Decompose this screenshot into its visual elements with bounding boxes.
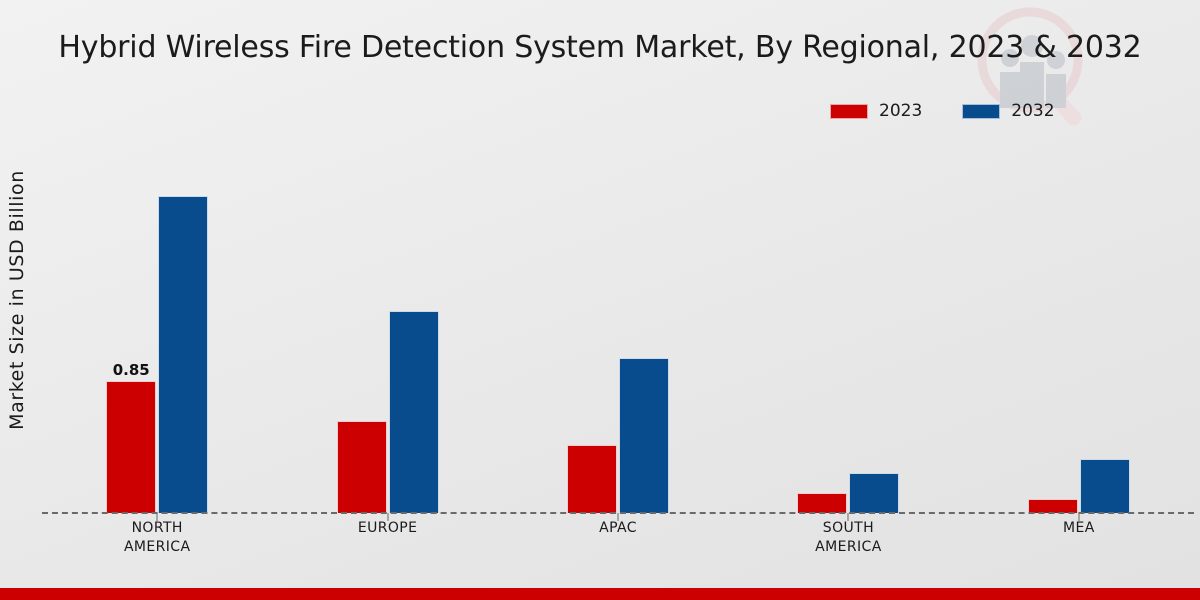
bar-group-mea [964,140,1194,513]
chart-title: Hybrid Wireless Fire Detection System Ma… [0,30,1200,65]
x-tick-label-mea: MEA [964,519,1194,557]
y-axis-label: Market Size in USD Billion [0,0,34,600]
chart-legend: 2023 2032 [830,101,1055,121]
bar-2023-apac[interactable] [567,445,617,513]
bar-group-north-america: 0.85 [42,140,272,513]
legend-swatch-2023-icon [830,104,868,119]
legend-item-2032[interactable]: 2032 [962,101,1054,121]
footer-accent-bar [0,588,1200,600]
x-tick-label-apac: APAC [503,519,733,557]
x-tick-label-line: AMERICA [42,538,272,557]
legend-item-2023[interactable]: 2023 [830,101,922,121]
bar-group-europe [272,140,502,513]
bar-2032-mea[interactable] [1080,459,1130,513]
bar-2032-apac[interactable] [619,358,669,513]
x-tick-label-line: SOUTH [733,519,963,538]
x-axis-tick-labels: NORTH AMERICA EUROPE APAC SOUTH AMERICA … [42,519,1194,557]
bar-group-south-america [733,140,963,513]
bar-2032-south-america[interactable] [849,473,899,513]
x-tick-label-line: APAC [503,519,733,538]
x-tick-label-line: EUROPE [272,519,502,538]
x-tick-label-europe: EUROPE [272,519,502,557]
x-tick-label-line: AMERICA [733,538,963,557]
legend-label-2023: 2023 [879,101,922,121]
x-tick-label-south-america: SOUTH AMERICA [733,519,963,557]
legend-swatch-2032-icon [962,104,1000,119]
bar-groups: 0.85 [42,140,1194,513]
x-tick-label-north-america: NORTH AMERICA [42,519,272,557]
bar-2023-south-america[interactable] [797,493,847,513]
bar-2023-europe[interactable] [337,421,387,513]
bar-2032-europe[interactable] [389,311,439,513]
bar-2023-north-america[interactable]: 0.85 [106,381,156,513]
x-tick-label-line: NORTH [42,519,272,538]
x-axis-baseline [42,512,1194,514]
bar-2032-north-america[interactable] [158,196,208,513]
bar-value-label: 0.85 [113,361,150,379]
chart-figure: Hybrid Wireless Fire Detection System Ma… [0,0,1200,600]
legend-label-2032: 2032 [1011,101,1054,121]
bar-2023-mea[interactable] [1028,499,1078,513]
bar-group-apac [503,140,733,513]
x-tick-label-line: MEA [964,519,1194,538]
